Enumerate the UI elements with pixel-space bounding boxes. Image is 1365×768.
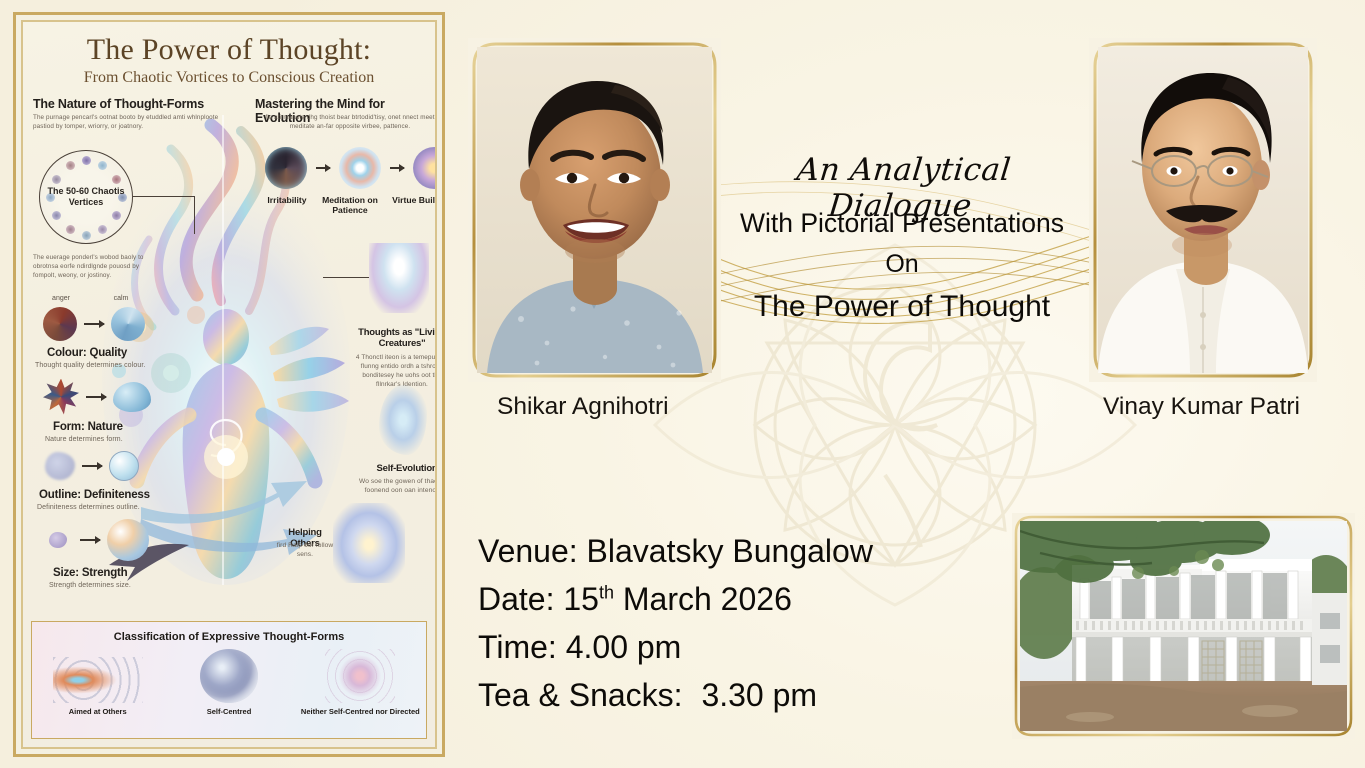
living-creature-connector (323, 277, 369, 278)
attribute-title-size: Size: Strength (53, 567, 128, 579)
aimed-at-others-icon (53, 657, 143, 703)
living-creature-icon (369, 243, 429, 313)
meditation-orb-icon (339, 147, 381, 189)
detail-tea-label: Tea & Snacks: (478, 677, 683, 713)
small-size-icon (49, 532, 67, 548)
invitation-canvas: The Power of Thought: From Chaotic Vorti… (0, 0, 1365, 768)
attribute-body-form: Nature determines form. (45, 435, 165, 445)
vortices-connector-line (133, 196, 195, 197)
left-column-heading: The Nature of Thought-Forms (33, 97, 204, 111)
detail-time-value: 4.00 pm (566, 629, 682, 665)
self-evolution-title: Self-Evolution (359, 463, 437, 474)
classification-item: Neither Self-Centred nor Directed (295, 649, 425, 716)
poster-title: The Power of Thought: (23, 34, 435, 66)
caption-anger: anger (41, 295, 81, 302)
irritability-orb-icon (265, 147, 307, 189)
detail-venue-label: Venue: (478, 533, 578, 569)
calm-vortex-icon (111, 307, 145, 341)
attribute-row-colour (43, 307, 145, 341)
large-size-icon (107, 519, 149, 561)
living-creature-title: Thoughts as "Living Creatures" (353, 327, 437, 351)
chaotic-vortices-diagram: The 50-60 Chaotis Vertices (39, 150, 133, 244)
evolution-sequence (265, 147, 437, 189)
detail-tea-snacks: Tea & Snacks: 3.30 pm (478, 671, 873, 719)
attribute-row-outline (45, 451, 139, 481)
detail-time: Time: 4.00 pm (478, 623, 873, 671)
attribute-title-outline: Outline: Definiteness (39, 489, 150, 501)
self-evolution-icon (379, 385, 427, 455)
vortices-label: The 50-60 Chaotis Vertices (40, 185, 132, 208)
vortices-body: The euerage ponderl's wobod baoly to obr… (33, 253, 149, 280)
event-details: Venue: Blavatsky Bungalow Date: 15th Mar… (478, 527, 873, 719)
detail-venue-value: Blavatsky Bungalow (587, 533, 873, 569)
classification-caption: Self-Centred (164, 707, 294, 716)
speaker-photo-frame-left (468, 38, 721, 382)
evolution-arrow-icon (390, 167, 404, 169)
detail-tea-value: 3.30 pm (701, 677, 817, 713)
smooth-form-icon (113, 382, 151, 412)
attribute-row-size (49, 519, 149, 561)
self-evolution-body: Wo soe the gowen of thaogbt to foonend o… (359, 477, 437, 496)
attribute-title-colour: Colour: Quality (47, 347, 127, 359)
neither-directed-icon (325, 649, 395, 703)
definite-outline-icon (109, 451, 139, 481)
classification-caption: Neither Self-Centred nor Directed (295, 707, 425, 716)
living-creature-body: 4 Thonctl iteon is a temepunary flunng e… (353, 353, 437, 390)
evolution-step-virtue: Virtue Built (387, 195, 437, 205)
detail-date-label: Date: (478, 581, 554, 617)
thought-forms-poster: The Power of Thought: From Chaotic Vorti… (13, 12, 445, 757)
transform-arrow-icon (80, 539, 100, 541)
evolution-step-irritability: Irritability (259, 195, 315, 205)
helping-others-icon (333, 503, 405, 583)
detail-date: Date: 15th March 2026 (478, 575, 873, 623)
right-column-body: flo atirmanote dhg thoist bear btrtodid'… (259, 113, 437, 131)
headline-line-3: On (732, 250, 1072, 279)
blurred-outline-icon (45, 452, 75, 480)
left-column-body: The purnage pencarl's ootnat booto by et… (33, 113, 219, 131)
detail-time-label: Time: (478, 629, 557, 665)
evolution-step-meditation: Meditation on Patience (319, 195, 381, 216)
anger-vortex-icon (43, 307, 77, 341)
virtue-orb-icon (413, 147, 437, 189)
spiky-form-icon (43, 379, 79, 415)
detail-venue: Venue: Blavatsky Bungalow (478, 527, 873, 575)
classification-item: Self-Centred (164, 649, 294, 716)
helping-others-body: fird Ralp oor follow sens. (273, 541, 337, 560)
detail-date-month-year: March 2026 (623, 581, 792, 617)
speaker-photo-right (1098, 47, 1308, 373)
detail-date-day: 15 (563, 581, 599, 617)
attribute-body-colour: Thought quality determines colour. (35, 361, 165, 371)
speaker-photo-frame-right (1089, 38, 1317, 382)
classification-title: Classification of Expressive Thought-For… (32, 631, 426, 643)
transform-arrow-icon (86, 396, 106, 398)
detail-date-ordinal: th (599, 582, 614, 602)
attribute-row-form (43, 379, 151, 415)
self-centred-icon (200, 649, 258, 703)
headline-line-4: The Power of Thought (732, 290, 1072, 324)
transform-arrow-icon (82, 465, 102, 467)
venue-photo-blavatsky-bungalow (1020, 521, 1347, 731)
transform-arrow-icon (84, 323, 104, 325)
classification-item: Aimed at Others (33, 657, 163, 716)
speaker-name-left: Shikar Agnihotri (497, 393, 669, 421)
caption-calm: calm (101, 295, 141, 302)
speaker-photo-left (477, 47, 712, 373)
attribute-body-size: Strength determines size. (49, 581, 169, 591)
headline-line-2: With Pictorial Presentations (732, 208, 1072, 239)
vortices-connector-drop (194, 196, 195, 234)
poster-subtitle: From Chaotic Vortices to Conscious Creat… (23, 69, 435, 87)
speaker-name-right: Vinay Kumar Patri (1103, 393, 1300, 421)
evolution-arrow-icon (316, 167, 330, 169)
attribute-body-outline: Definiteness determines outline. (37, 503, 167, 513)
classification-band: Classification of Expressive Thought-For… (31, 621, 427, 739)
venue-photo-frame (1012, 513, 1355, 739)
classification-caption: Aimed at Others (33, 707, 163, 716)
poster-artwork: The Nature of Thought-Forms The purnage … (23, 95, 435, 595)
attribute-title-form: Form: Nature (53, 421, 123, 433)
